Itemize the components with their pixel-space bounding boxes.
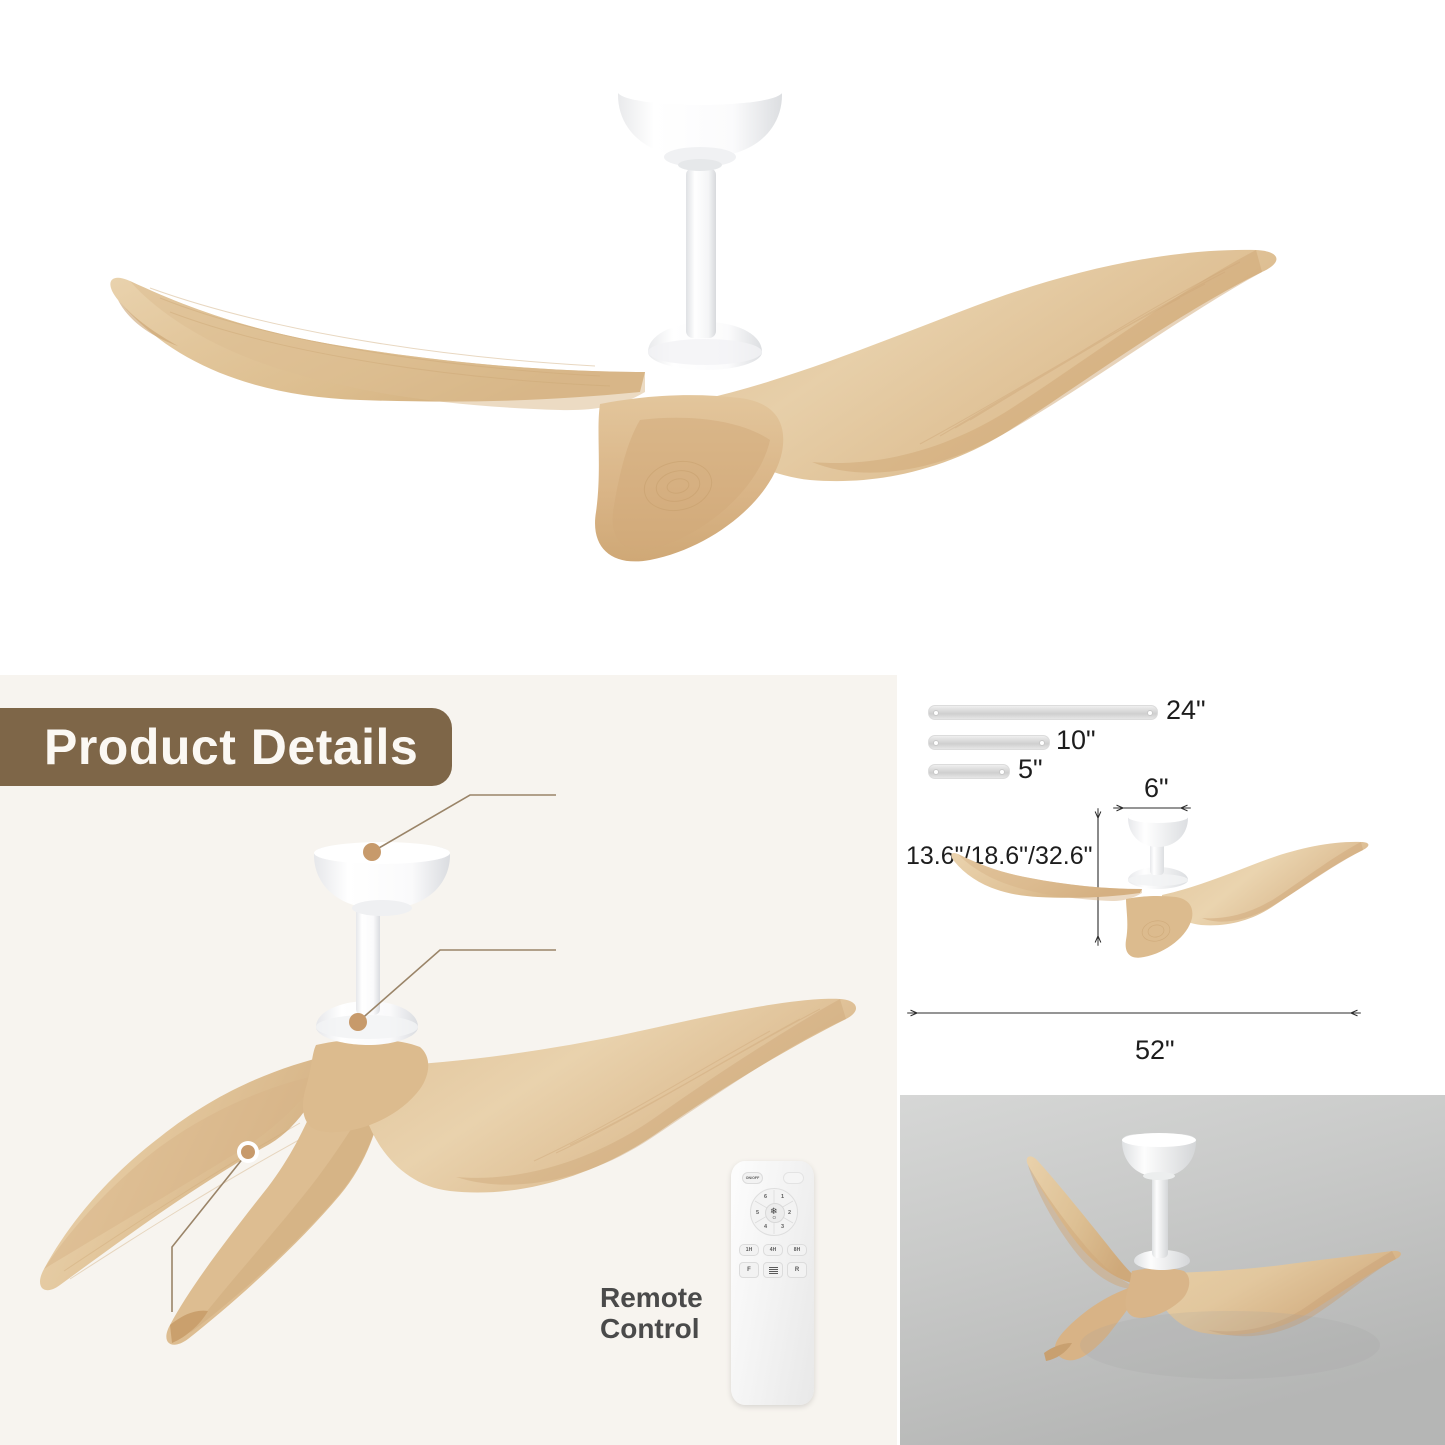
speed-5[interactable]: 5 bbox=[756, 1210, 759, 1216]
speed-3[interactable]: 3 bbox=[781, 1224, 784, 1230]
remote-caption-line1: Remote bbox=[600, 1282, 703, 1313]
installed-fan-photo bbox=[900, 1095, 1445, 1445]
dimension-diagram bbox=[900, 675, 1445, 1095]
remote-power-button[interactable]: ON/OFF bbox=[742, 1172, 763, 1184]
remote-off-label: O bbox=[773, 1215, 777, 1220]
timer-label: 8H bbox=[794, 1247, 800, 1253]
reverse-label: R bbox=[795, 1267, 799, 1273]
forward-label: F bbox=[747, 1267, 751, 1273]
remote-power-label: ON/OFF bbox=[746, 1176, 760, 1180]
remote-control-caption: Remote Control bbox=[600, 1282, 703, 1345]
remote-control[interactable]: ON/OFF 1 2 3 4 5 6 ❄ bbox=[731, 1161, 814, 1405]
speed-4[interactable]: 4 bbox=[764, 1224, 767, 1230]
hero-product-image bbox=[0, 0, 1445, 673]
timer-8h-button[interactable]: 8H bbox=[787, 1244, 807, 1256]
timer-4h-button[interactable]: 4H bbox=[763, 1244, 783, 1256]
timer-1h-button[interactable]: 1H bbox=[739, 1244, 759, 1256]
speed-2[interactable]: 2 bbox=[788, 1210, 791, 1216]
forward-button[interactable]: F bbox=[739, 1262, 759, 1278]
dimension-spec-panel: 24" 10" 5" 6" 13.6"/18.6"/32.6" 52" bbox=[900, 675, 1445, 1095]
remote-speed-dial[interactable]: 1 2 3 4 5 6 ❄ O bbox=[750, 1188, 798, 1236]
reverse-button[interactable]: R bbox=[787, 1262, 807, 1278]
installed-fan-illustration bbox=[900, 1095, 1445, 1445]
light-icon bbox=[769, 1267, 778, 1274]
speed-6[interactable]: 6 bbox=[764, 1194, 767, 1200]
remote-center-button[interactable]: ❄ O bbox=[765, 1203, 785, 1223]
timer-label: 4H bbox=[770, 1247, 776, 1253]
hero-fan-illustration bbox=[0, 0, 1445, 673]
remote-aux-button[interactable] bbox=[783, 1172, 804, 1184]
light-button[interactable] bbox=[763, 1262, 783, 1278]
timer-label: 1H bbox=[746, 1247, 752, 1253]
speed-1[interactable]: 1 bbox=[781, 1194, 784, 1200]
product-detail-page: Product Details bbox=[0, 0, 1445, 1445]
remote-caption-line2: Control bbox=[600, 1313, 703, 1344]
